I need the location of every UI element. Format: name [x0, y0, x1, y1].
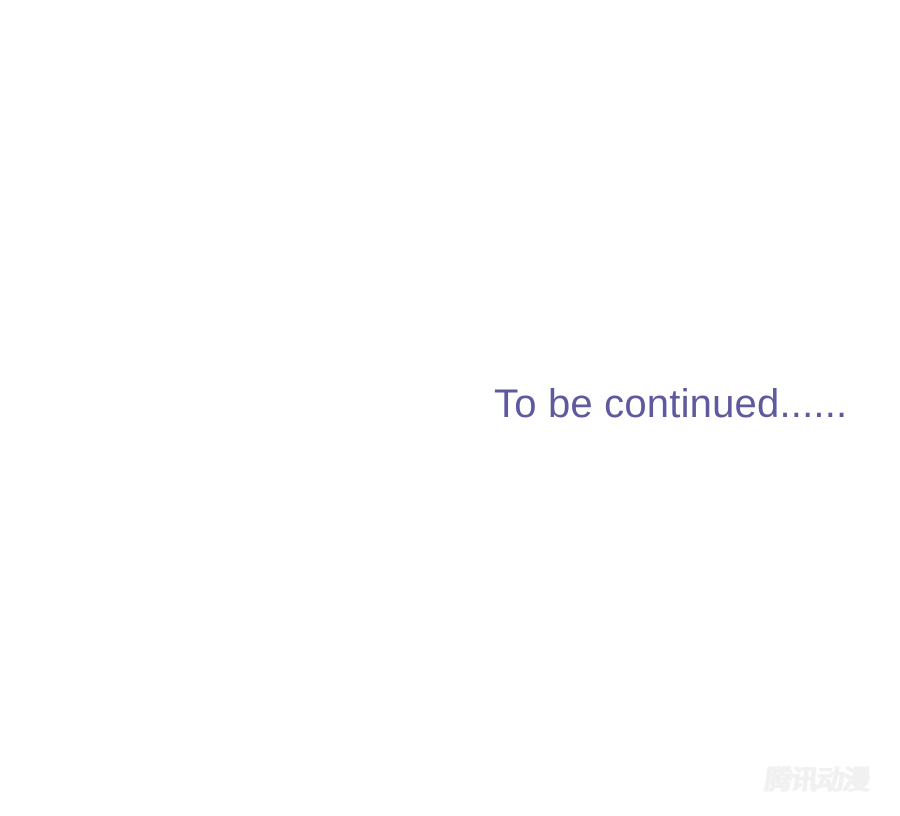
watermark-label: 腾讯动漫 [763, 766, 870, 796]
publisher-watermark: 腾讯动漫 [752, 763, 882, 799]
to-be-continued-caption: To be continued...... [494, 381, 847, 427]
comic-page: To be continued...... 腾讯动漫 [0, 0, 900, 816]
